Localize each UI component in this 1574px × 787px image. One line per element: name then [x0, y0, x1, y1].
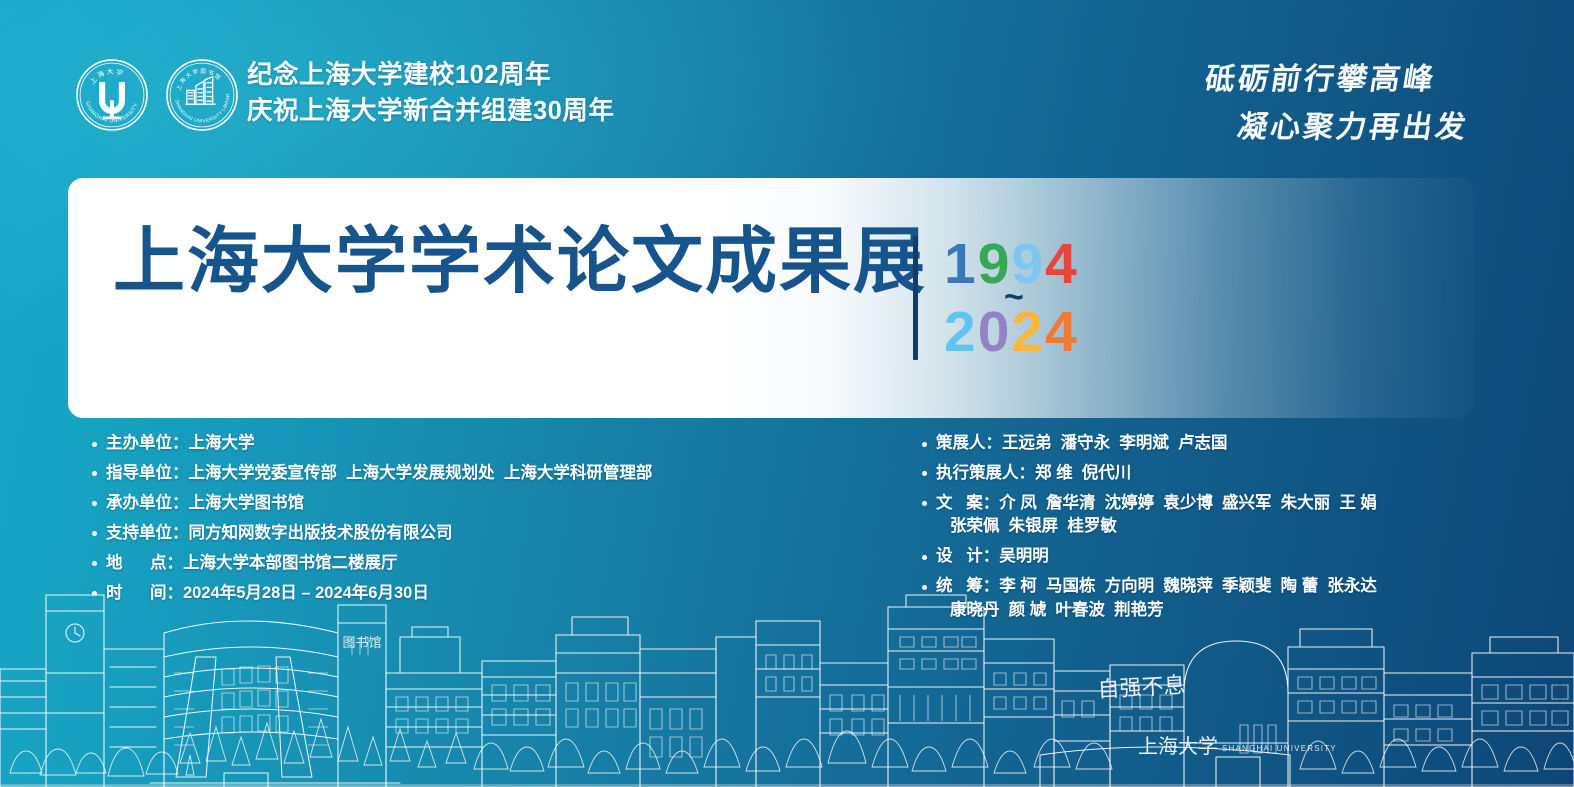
- bullet-icon: [92, 442, 97, 447]
- info-row: 时 间：2024年5月28日 – 2024年6月30日: [92, 582, 892, 605]
- logo-group: 上 海 大 学 SHANGHAI UNIVERSITY: [74, 57, 240, 133]
- info-row: 指导单位：上海大学党委宣传部 上海大学发展规划处 上海大学科研管理部: [92, 462, 892, 485]
- svg-text:SHANGHAI UNIVERSITY LIBRARY: SHANGHAI UNIVERSITY LIBRARY: [164, 57, 230, 123]
- year-range-block: 1994 ~ 2024: [913, 236, 1124, 362]
- bullet-icon: [922, 471, 927, 476]
- info-row-label: 策展人：王远弟 潘守永 李明斌 卢志国: [936, 432, 1228, 455]
- anniversary-headline: 纪念上海大学建校102周年 庆祝上海大学新合并组建30周年: [247, 57, 614, 129]
- info-row-label: 指导单位：上海大学党委宣传部 上海大学发展规划处 上海大学科研管理部: [106, 462, 652, 485]
- vertical-divider: [913, 236, 918, 360]
- info-row-label: 统 筹：李 柯 马国栋 方向明 魏晓萍 季颖斐 陶 蕾 张永达: [936, 575, 1377, 598]
- bullet-icon: [922, 442, 927, 447]
- bullet-icon: [922, 501, 927, 506]
- info-row: 设 计：吴明明: [922, 545, 1542, 568]
- info-row: 文 案：介 凤 詹华清 沈婷婷 袁少博 盛兴军 朱大丽 王 娟张荣佩 朱银屏 桂…: [922, 492, 1542, 539]
- info-row-label: 时 间：2024年5月28日 – 2024年6月30日: [106, 582, 429, 605]
- shanghai-university-library-seal-icon: 上 海 大 学 图 书 馆 SHANGHAI UNIVERSITY LIBRAR…: [164, 57, 240, 133]
- bullet-icon: [92, 501, 97, 506]
- shanghai-university-seal-icon: 上 海 大 学 SHANGHAI UNIVERSITY: [74, 57, 150, 133]
- bullet-icon: [92, 561, 97, 566]
- info-row-continuation: 康晓丹 颜 虓 叶春波 荆艳芳: [950, 599, 1377, 622]
- info-row-label: 设 计：吴明明: [936, 545, 1049, 568]
- info-row-label: 支持单位：同方知网数字出版技术股份有限公司: [106, 522, 453, 545]
- title-card: 上海大学学术论文成果展 1994 ~ 2024: [68, 178, 1474, 418]
- poster-header: 上 海 大 学 SHANGHAI UNIVERSITY: [0, 0, 1574, 172]
- year-digits: 1994 ~ 2024: [944, 236, 1124, 362]
- library-label: 图书馆: [342, 636, 381, 651]
- info-row: 执行策展人：郑 维 倪代川: [922, 462, 1542, 485]
- anniversary-line-2: 庆祝上海大学新合并组建30周年: [247, 93, 614, 129]
- info-row: 承办单位：上海大学图书馆: [92, 492, 892, 515]
- info-row-continuation-label: 康晓丹 颜 虓 叶春波 荆艳芳: [950, 599, 1377, 622]
- info-row: 统 筹：李 柯 马国栋 方向明 魏晓萍 季颖斐 陶 蕾 张永达康晓丹 颜 虓 叶…: [922, 575, 1542, 622]
- info-row: 支持单位：同方知网数字出版技术股份有限公司: [92, 522, 892, 545]
- info-row-continuation-label: 张荣佩 朱银屏 桂罗敏: [950, 515, 1377, 538]
- info-row: 地 点：上海大学本部图书馆二楼展厅: [92, 552, 892, 575]
- info-row-label: 主办单位：上海大学: [106, 432, 255, 455]
- year-digit-0: 2: [944, 300, 978, 364]
- bullet-icon: [92, 471, 97, 476]
- poster-root: 上 海 大 学 SHANGHAI UNIVERSITY: [0, 0, 1574, 787]
- info-row-continuation: 张荣佩 朱银屏 桂罗敏: [950, 515, 1377, 538]
- gate-text-en: SHANGHAI UNIVERSITY: [1222, 744, 1337, 753]
- bullet-icon: [922, 585, 927, 590]
- bullet-icon: [92, 591, 97, 596]
- info-row: 主办单位：上海大学: [92, 432, 892, 455]
- info-column-right: 策展人：王远弟 潘守永 李明斌 卢志国执行策展人：郑 维 倪代川文 案：介 凤 …: [922, 432, 1542, 628]
- year-digit-3: 4: [1045, 300, 1079, 364]
- info-row-label: 执行策展人：郑 维 倪代川: [936, 462, 1131, 485]
- year-digit-2: 2: [1011, 300, 1045, 364]
- info-row-label: 文 案：介 凤 詹华清 沈婷婷 袁少博 盛兴军 朱大丽 王 娟: [936, 492, 1377, 515]
- gate-text-cn: 上海大学: [1138, 734, 1218, 758]
- calligraphy-line-2: 凝心聚力再出发: [1235, 110, 1471, 145]
- year-digit-3: 4: [1045, 232, 1079, 296]
- calligraphy-line-1: 砥砺前行攀高峰: [1202, 62, 1438, 97]
- year-digit-1: 0: [978, 300, 1012, 364]
- info-row-label: 承办单位：上海大学图书馆: [106, 492, 304, 515]
- page-title: 上海大学学术论文成果展: [113, 226, 927, 298]
- info-column-left: 主办单位：上海大学指导单位：上海大学党委宣传部 上海大学发展规划处 上海大学科研…: [92, 432, 892, 612]
- calligraphy-slogan: 砥砺前行攀高峰 凝心聚力再出发: [1178, 45, 1478, 153]
- bullet-icon: [922, 555, 927, 560]
- bullet-icon: [92, 531, 97, 536]
- campus-motto: 自强不息: [1097, 673, 1186, 703]
- info-row: 策展人：王远弟 潘守永 李明斌 卢志国: [922, 432, 1542, 455]
- info-row-label: 地 点：上海大学本部图书馆二楼展厅: [106, 552, 398, 575]
- year-end: 2024: [944, 304, 1079, 361]
- anniversary-line-1: 纪念上海大学建校102周年: [247, 57, 614, 93]
- year-digit-0: 1: [944, 232, 978, 296]
